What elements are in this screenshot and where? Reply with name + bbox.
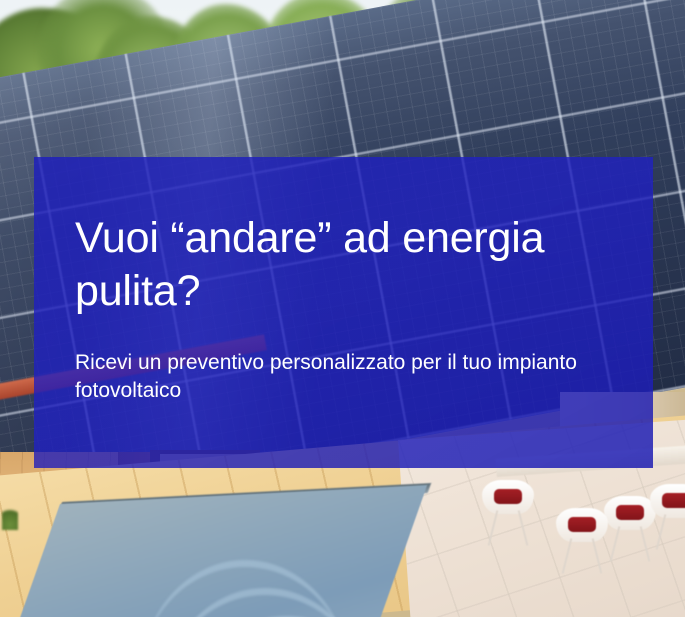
- hero-banner: Vuoi “andare” ad energia pulita? Ricevi …: [0, 0, 685, 617]
- hero-overlay-panel: Vuoi “andare” ad energia pulita? Ricevi …: [34, 157, 653, 468]
- chair-cushion: [568, 517, 596, 532]
- hero-headline: Vuoi “andare” ad energia pulita?: [75, 212, 605, 318]
- chair-cushion: [616, 505, 644, 520]
- hero-subheadline: Ricevi un preventivo personalizzato per …: [75, 349, 595, 405]
- plant: [2, 504, 18, 530]
- chair-cushion: [662, 493, 685, 508]
- hero-copy: Vuoi “andare” ad energia pulita? Ricevi …: [75, 212, 627, 405]
- chair-cushion: [494, 489, 522, 504]
